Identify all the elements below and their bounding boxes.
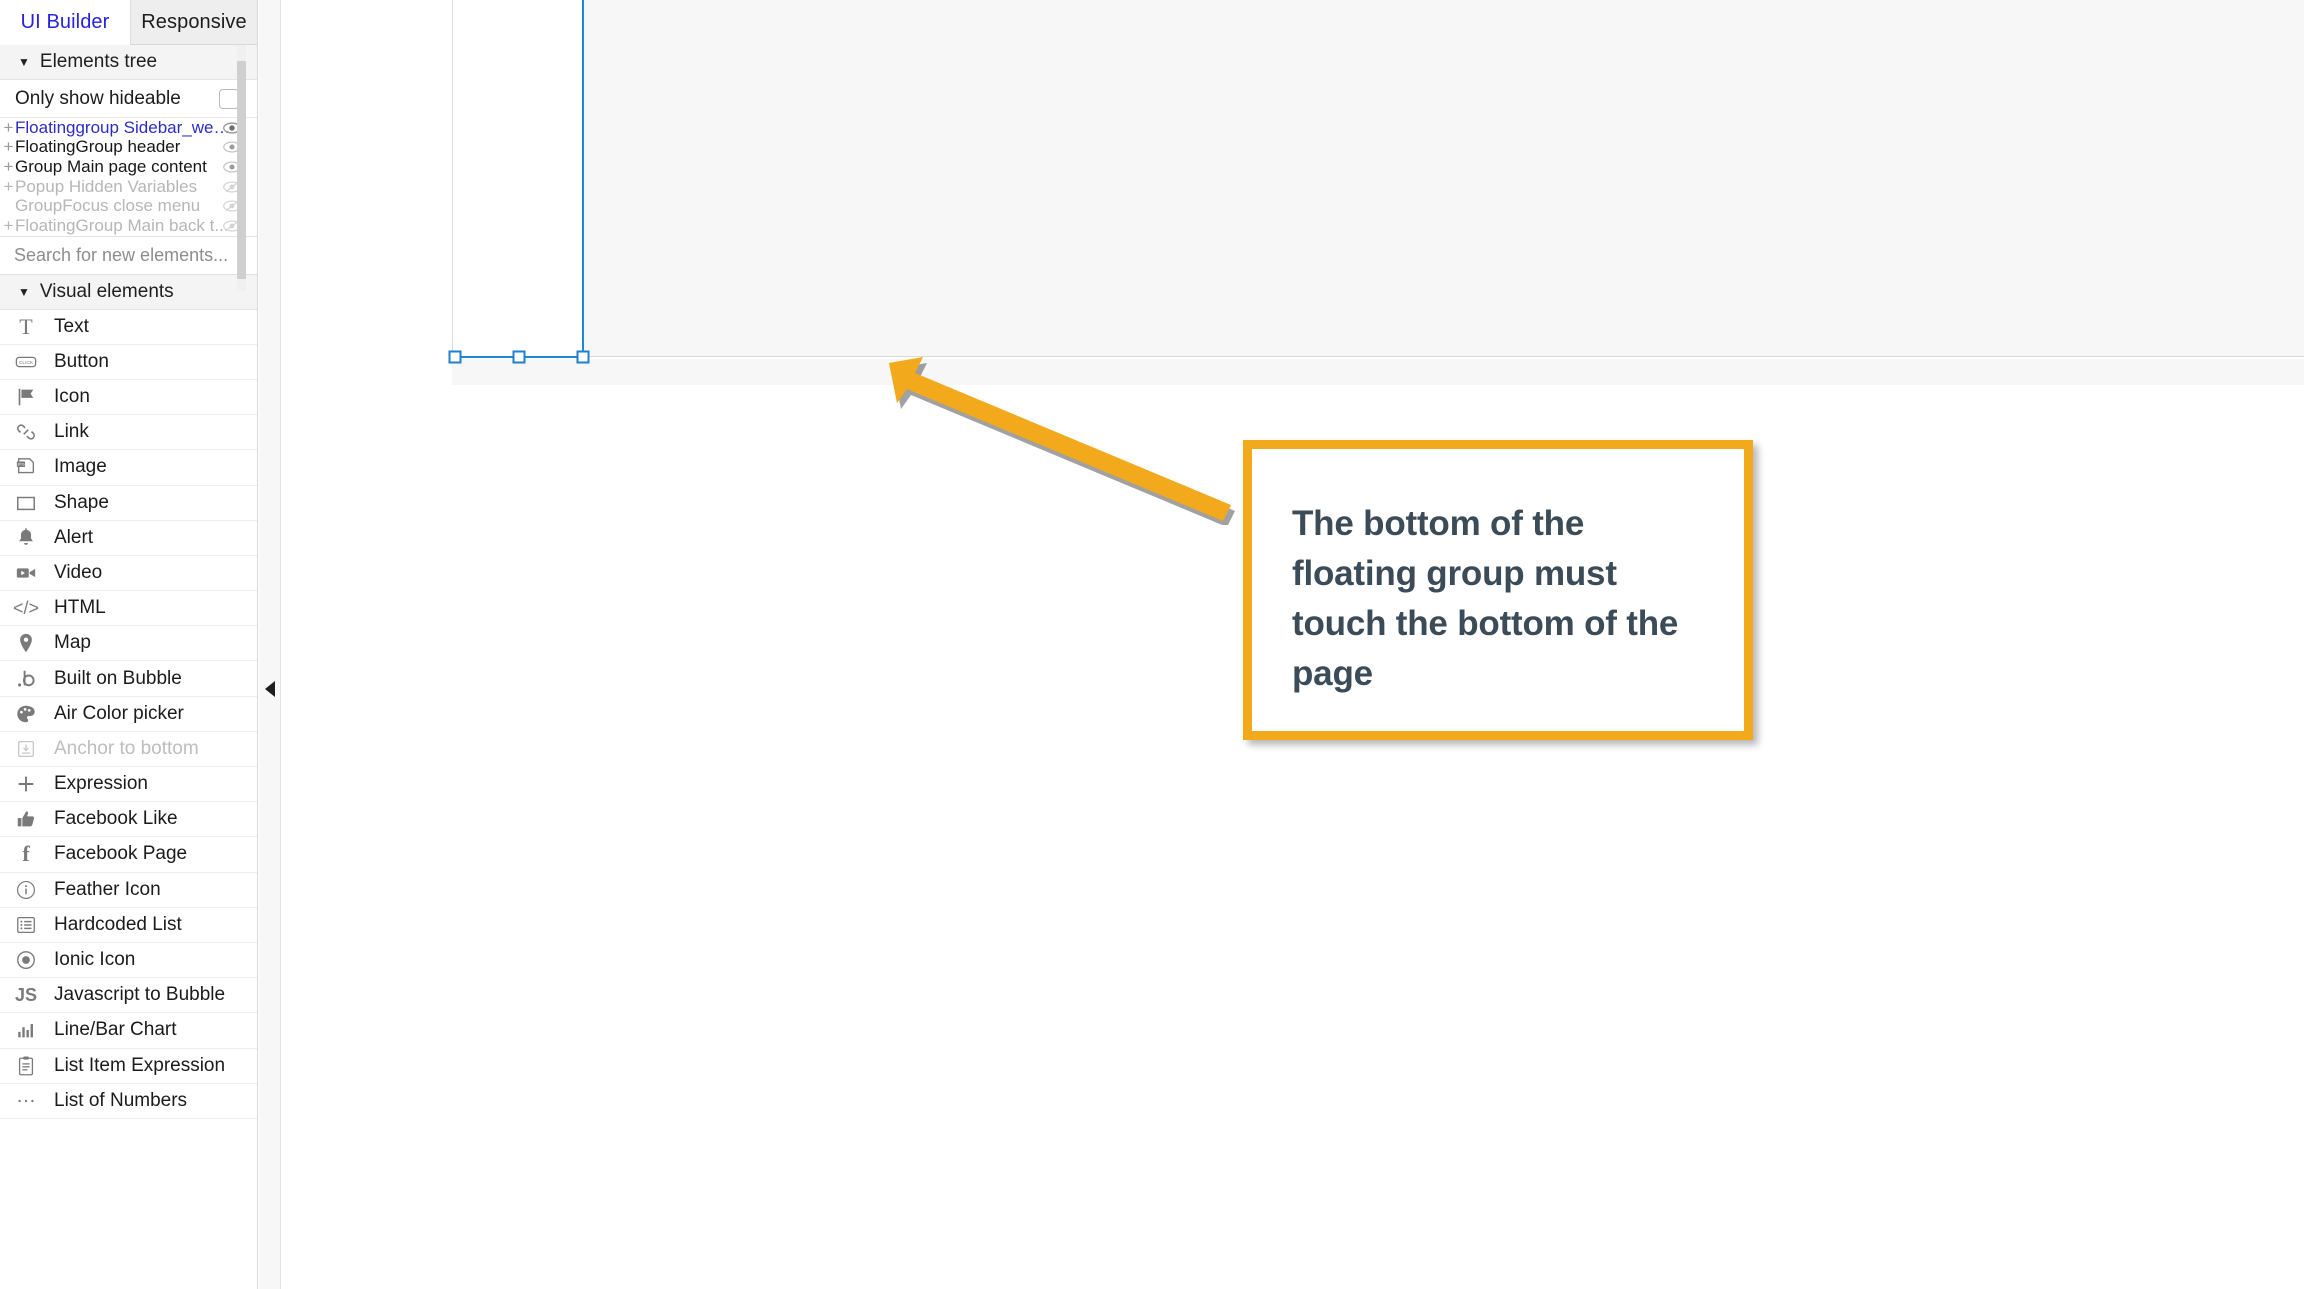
ve-item-label: Hardcoded List (54, 914, 182, 936)
left-editor-panel: UI Builder Responsive ▼ Elements tree On… (0, 0, 258, 1289)
text-serif-t-icon: T (14, 315, 38, 339)
ve-item-label: Javascript to Bubble (54, 984, 225, 1006)
tree-item-label: FloatingGroup header (15, 137, 180, 157)
tree-item-3[interactable]: +Popup Hidden Variables (0, 177, 257, 197)
chevron-down-icon: ▼ (18, 56, 30, 68)
rectangle-shape-icon (14, 491, 38, 515)
button-click-icon: CLICK (14, 350, 38, 374)
tree-item-1[interactable]: +FloatingGroup header (0, 138, 257, 158)
chevron-down-icon: ▼ (18, 286, 30, 298)
annotation-callout-box: The bottom of the floating group must to… (1243, 440, 1753, 740)
image-file-icon: JPG (14, 455, 38, 479)
page-canvas-area[interactable] (452, 0, 2304, 357)
ve-item-feather-icon[interactable]: Feather Icon (0, 873, 257, 908)
ve-item-label: Icon (54, 386, 90, 408)
ve-item-map[interactable]: Map (0, 626, 257, 661)
ve-item-alert[interactable]: Alert (0, 521, 257, 556)
elements-tree-scrollbar-thumb[interactable] (237, 61, 246, 279)
panel-tabs: UI Builder Responsive (0, 0, 257, 45)
ve-item-label: Map (54, 632, 91, 654)
expand-plus-icon[interactable]: + (2, 118, 15, 138)
ve-item-label: Alert (54, 527, 93, 549)
ve-item-image[interactable]: JPGImage (0, 450, 257, 485)
ve-item-label: Button (54, 351, 109, 373)
tree-item-label: Popup Hidden Variables (15, 177, 197, 197)
tree-item-label: FloatingGroup Main back t... (15, 216, 229, 236)
design-canvas[interactable]: The bottom of the floating group must to… (281, 0, 2304, 1289)
ve-item-label: Link (54, 421, 89, 443)
expand-plus-icon[interactable]: + (2, 157, 15, 177)
video-camera-icon (14, 561, 38, 585)
tab-responsive[interactable]: Responsive (130, 0, 258, 45)
tree-item-label: Floatinggroup Sidebar_web... (15, 118, 231, 138)
anchor-to-bottom-icon (14, 737, 38, 761)
ve-item-label: Text (54, 316, 89, 338)
annotation-callout-text: The bottom of the floating group must to… (1292, 499, 1712, 699)
code-tags-icon: </> (14, 596, 38, 620)
tree-item-0[interactable]: +Floatinggroup Sidebar_web... (0, 118, 257, 138)
tree-item-4[interactable]: GroupFocus close menu (0, 196, 257, 216)
chain-link-icon (14, 420, 38, 444)
ve-item-label: Facebook Page (54, 843, 187, 865)
ve-item-icon[interactable]: Icon (0, 380, 257, 415)
only-show-hideable-row[interactable]: Only show hideable (0, 80, 257, 118)
ve-item-text[interactable]: TText (0, 310, 257, 345)
visual-elements-title: Visual elements (40, 281, 174, 303)
ve-item-label: Image (54, 456, 107, 478)
visual-elements-section-header[interactable]: ▼ Visual elements (0, 275, 257, 310)
bubble-logo-icon (14, 667, 38, 691)
expand-plus-icon[interactable]: + (2, 137, 15, 157)
visual-elements-list: TTextCLICKButtonIconLinkJPGImageShapeAle… (0, 310, 257, 1119)
ve-item-built-on-bubble[interactable]: Built on Bubble (0, 661, 257, 696)
ve-item-shape[interactable]: Shape (0, 486, 257, 521)
ve-item-label: List Item Expression (54, 1055, 225, 1077)
svg-text:JPG: JPG (17, 463, 24, 467)
panel-collapse-handle[interactable] (259, 0, 281, 1289)
ve-item-ionic-icon[interactable]: Ionic Icon (0, 943, 257, 978)
elements-tree-title: Elements tree (40, 51, 157, 73)
ve-item-facebook-like[interactable]: Facebook Like (0, 802, 257, 837)
ve-item-label: Video (54, 562, 102, 584)
ve-item-link[interactable]: Link (0, 415, 257, 450)
tree-item-label: Group Main page content (15, 157, 207, 177)
ve-item-label: Line/Bar Chart (54, 1019, 177, 1041)
js-icon: JS (14, 983, 38, 1007)
expand-plus-icon[interactable]: + (2, 177, 15, 197)
ve-item-label: Air Color picker (54, 703, 184, 725)
ve-item-label: Facebook Like (54, 808, 178, 830)
elements-tree-list: +Floatinggroup Sidebar_web...+FloatingGr… (0, 118, 257, 237)
ve-item-anchor-to-bottom[interactable]: Anchor to bottom (0, 732, 257, 767)
clipboard-list-icon (14, 1054, 38, 1078)
app-root: UI Builder Responsive ▼ Elements tree On… (0, 0, 2304, 1289)
plus-icon (14, 772, 38, 796)
ve-item-list-item-expression[interactable]: List Item Expression (0, 1049, 257, 1084)
bell-icon (14, 526, 38, 550)
ve-item-html[interactable]: </>HTML (0, 591, 257, 626)
ve-item-label: Ionic Icon (54, 949, 135, 971)
bar-chart-icon (14, 1018, 38, 1042)
ve-item-hardcoded-list[interactable]: Hardcoded List (0, 908, 257, 943)
ellipsis-icon (14, 1089, 38, 1113)
elements-tree-section-header[interactable]: ▼ Elements tree (0, 45, 257, 80)
selection-outline-right (582, 0, 584, 357)
ve-item-javascript-to-bubble[interactable]: JSJavascript to Bubble (0, 978, 257, 1013)
handle-bottom-left[interactable] (449, 351, 462, 364)
only-show-hideable-checkbox[interactable] (219, 89, 239, 109)
facebook-f-icon: f (14, 842, 38, 866)
ve-item-air-color-picker[interactable]: Air Color picker (0, 697, 257, 732)
search-new-elements-input[interactable]: Search for new elements... (0, 237, 257, 275)
ve-item-video[interactable]: Video (0, 556, 257, 591)
search-placeholder-text: Search for new elements... (14, 245, 228, 266)
ve-item-label: Expression (54, 773, 148, 795)
expand-plus-icon[interactable]: + (2, 216, 15, 236)
ve-item-expression[interactable]: Expression (0, 767, 257, 802)
svg-text:CLICK: CLICK (19, 360, 34, 366)
info-circle-icon (14, 878, 38, 902)
below-page-band (452, 359, 2304, 385)
ve-item-label: Built on Bubble (54, 668, 182, 690)
handle-bottom-center[interactable] (513, 351, 526, 364)
tab-responsive-label: Responsive (141, 11, 247, 34)
ve-item-line-bar-chart[interactable]: Line/Bar Chart (0, 1013, 257, 1048)
palette-icon (14, 702, 38, 726)
ve-item-label: Anchor to bottom (54, 738, 199, 760)
map-pin-icon (14, 631, 38, 655)
handle-bottom-right[interactable] (577, 351, 590, 364)
tree-item-label: GroupFocus close menu (15, 196, 200, 216)
ve-item-button[interactable]: CLICKButton (0, 345, 257, 380)
tree-item-2[interactable]: +Group Main page content (0, 157, 257, 177)
ve-item-list-of-numbers[interactable]: List of Numbers (0, 1084, 257, 1119)
ve-item-facebook-page[interactable]: fFacebook Page (0, 837, 257, 872)
ve-item-label: HTML (54, 597, 106, 619)
floating-group-sidebar-region[interactable] (453, 0, 584, 356)
flag-icon (14, 385, 38, 409)
ve-item-label: Shape (54, 492, 109, 514)
list-lines-icon (14, 913, 38, 937)
only-show-hideable-label: Only show hideable (15, 88, 181, 110)
ve-item-label: List of Numbers (54, 1090, 187, 1112)
chevron-left-icon (265, 681, 275, 697)
tree-item-5[interactable]: +FloatingGroup Main back t... (0, 216, 257, 236)
radio-circle-icon (14, 948, 38, 972)
thumbs-up-icon (14, 807, 38, 831)
ve-item-label: Feather Icon (54, 879, 161, 901)
tab-ui-builder[interactable]: UI Builder (0, 0, 130, 45)
tab-ui-builder-label: UI Builder (21, 11, 110, 34)
